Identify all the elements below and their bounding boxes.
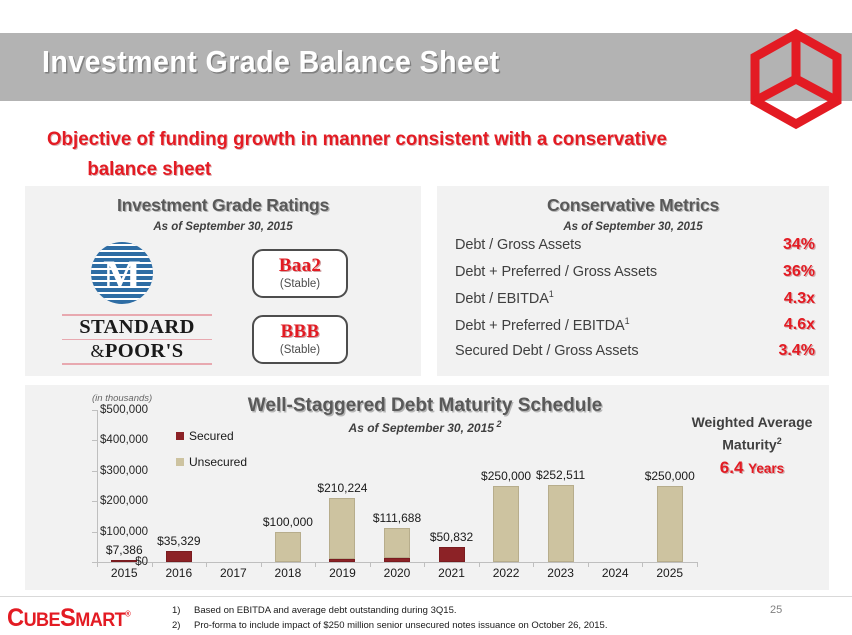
legend-item: Secured (176, 427, 247, 445)
rating-box-moodys: Baa2 (Stable) (252, 249, 348, 298)
ratings-panel-subtitle: As of September 30, 2015 (25, 216, 421, 233)
x-axis-tick-mark (152, 562, 153, 567)
bar-data-label: $50,832 (430, 530, 473, 544)
x-axis-tick-label: 2016 (165, 566, 192, 580)
x-axis-tick-mark (97, 562, 98, 567)
metric-row: Debt + Preferred / EBITDA14.6x (455, 316, 815, 343)
objective-line-1: Objective of funding growth in manner co… (47, 128, 667, 150)
sp-rule-bottom (62, 363, 212, 365)
objective-line-2: balance sheet (47, 154, 777, 184)
logo-c: C (7, 604, 24, 632)
chart-bar (493, 486, 519, 562)
wam-value: 6.4 Years (672, 458, 832, 478)
x-axis-tick-label: 2022 (493, 566, 520, 580)
moodys-logo: M (88, 239, 156, 307)
metric-row: Secured Debt / Gross Assets3.4% (455, 342, 815, 369)
metric-footnote-marker: 1 (625, 316, 630, 326)
x-axis-tick-label: 2020 (384, 566, 411, 580)
x-axis-tick-mark (588, 562, 589, 567)
bar-data-label: $111,688 (373, 511, 421, 525)
bar-data-label: $250,000 (481, 469, 531, 483)
bar-segment-unsecured (329, 498, 355, 559)
sp-line-1: STANDARD (62, 316, 212, 339)
y-axis-tick-mark (92, 410, 97, 411)
metric-row: Debt / Gross Assets34% (455, 236, 815, 263)
legend-item: Unsecured (176, 453, 247, 471)
x-axis-tick-mark (479, 562, 480, 567)
rating-outlook: (Stable) (280, 343, 320, 358)
bar-data-label: $252,511 (536, 468, 585, 482)
rating-grade: Baa2 (279, 256, 321, 276)
y-axis-tick-mark (92, 532, 97, 533)
footnote-text: Pro-forma to include impact of $250 mill… (194, 618, 607, 633)
chart-bar (657, 486, 683, 562)
footnote-text: Based on EBITDA and average debt outstan… (194, 603, 457, 618)
x-axis-tick-mark (642, 562, 643, 567)
x-axis-tick-mark (261, 562, 262, 567)
x-axis-tick-label: 2017 (220, 566, 247, 580)
chart-bar (384, 528, 410, 562)
rating-box-sp: BBB (Stable) (252, 315, 348, 364)
metric-value: 34% (753, 236, 815, 254)
sp-line-2: &POOR'S (62, 340, 212, 363)
rating-grade: BBB (281, 322, 320, 342)
metric-label: Debt / EBITDA1 (455, 289, 753, 307)
bar-data-label: $100,000 (263, 515, 313, 529)
legend-swatch (176, 432, 184, 440)
metric-value: 3.4% (753, 342, 815, 360)
ratings-panel-title: Investment Grade Ratings (25, 186, 421, 216)
y-axis-tick-mark (92, 440, 97, 441)
metric-footnote-marker: 1 (549, 289, 554, 299)
weighted-average-maturity: Weighted Average Maturity2 6.4 Years (672, 413, 832, 478)
bar-data-label: $7,386 (106, 543, 143, 557)
bar-segment-unsecured (275, 532, 301, 562)
metric-label: Debt + Preferred / Gross Assets (455, 264, 753, 280)
standard-and-poors-logo: STANDARD &POOR'S (62, 314, 212, 365)
wam-title-line-1: Weighted Average (672, 413, 832, 432)
wam-unit: Years (748, 461, 784, 476)
wam-footnote-marker: 2 (777, 436, 782, 446)
bar-segment-unsecured (657, 486, 683, 562)
bar-data-label: $210,224 (317, 481, 367, 495)
chart-bar (439, 547, 465, 562)
metric-label: Debt + Preferred / EBITDA1 (455, 316, 753, 334)
footnote-row: 1)Based on EBITDA and average debt outst… (172, 603, 772, 618)
metric-value: 4.3x (753, 290, 815, 308)
footer-divider (0, 596, 852, 597)
footnote-row: 2)Pro-forma to include impact of $250 mi… (172, 618, 772, 633)
y-axis-tick-label: $100,000 (58, 526, 148, 538)
bar-segment-unsecured (384, 528, 410, 558)
logo-s: S (60, 604, 75, 632)
x-axis-tick-mark (697, 562, 698, 567)
metric-value: 4.6x (753, 316, 815, 334)
y-axis-tick-mark (92, 501, 97, 502)
svg-text:M: M (103, 252, 141, 297)
x-axis-tick-label: 2018 (275, 566, 302, 580)
metric-row: Debt / EBITDA14.3x (455, 289, 815, 316)
page-number: 25 (770, 604, 782, 616)
metric-row: Debt + Preferred / Gross Assets36% (455, 263, 815, 290)
metrics-panel-title: Conservative Metrics (437, 186, 829, 216)
chart-bar (548, 485, 574, 562)
x-axis-tick-mark (370, 562, 371, 567)
metrics-list: Debt / Gross Assets34%Debt + Preferred /… (455, 236, 815, 369)
bar-segment-secured (439, 547, 465, 562)
bar-segment-secured (166, 551, 192, 562)
metric-label: Secured Debt / Gross Assets (455, 343, 753, 359)
bar-segment-unsecured (548, 485, 574, 562)
x-axis-tick-label: 2019 (329, 566, 356, 580)
logo-ube: UBE (24, 610, 60, 631)
chart-x-axis (97, 562, 697, 563)
legend-swatch (176, 458, 184, 466)
x-axis-tick-mark (424, 562, 425, 567)
x-axis-tick-mark (533, 562, 534, 567)
footnote-number: 1) (172, 603, 194, 618)
chart-legend: SecuredUnsecured (176, 427, 247, 479)
x-axis-tick-label: 2021 (438, 566, 465, 580)
bar-data-label: $35,329 (157, 534, 200, 548)
metric-label: Debt / Gross Assets (455, 237, 753, 253)
x-axis-tick-label: 2024 (602, 566, 629, 580)
x-axis-tick-label: 2025 (656, 566, 683, 580)
chart-bar (329, 498, 355, 562)
x-axis-tick-mark (206, 562, 207, 567)
cubesmart-logo: CUBESMART® (7, 604, 130, 633)
red-cube-logo (748, 27, 844, 131)
bar-segment-unsecured (493, 486, 519, 562)
legend-label: Secured (189, 429, 234, 443)
y-axis-tick-mark (92, 471, 97, 472)
sp-ampersand: & (90, 341, 104, 361)
y-axis-tick-label: $200,000 (58, 495, 148, 507)
metrics-panel-subtitle: As of September 30, 2015 (437, 216, 829, 233)
slide: Investment Grade Balance Sheet Objective… (0, 0, 852, 635)
legend-label: Unsecured (189, 455, 247, 469)
wam-title-line-2: Maturity2 (672, 432, 832, 455)
bar-segment-secured (384, 558, 410, 562)
logo-mart: MART (75, 610, 125, 631)
metric-value: 36% (753, 263, 815, 281)
chart-units-label: (in thousands) (92, 393, 152, 404)
x-axis-tick-mark (315, 562, 316, 567)
y-axis-tick-label: $500,000 (58, 404, 148, 416)
chart-bar (275, 532, 301, 562)
bar-segment-secured (329, 559, 355, 562)
footnote-number: 2) (172, 618, 194, 633)
y-axis-tick-label: $400,000 (58, 434, 148, 446)
rating-outlook: (Stable) (280, 277, 320, 292)
chart-bar (166, 551, 192, 562)
registered-mark: ® (125, 610, 130, 619)
footnotes: 1)Based on EBITDA and average debt outst… (172, 603, 772, 633)
x-axis-tick-label: 2015 (111, 566, 138, 580)
x-axis-tick-label: 2023 (547, 566, 574, 580)
objective-statement: Objective of funding growth in manner co… (47, 124, 777, 184)
page-title: Investment Grade Balance Sheet (42, 44, 500, 80)
y-axis-tick-label: $300,000 (58, 465, 148, 477)
sp-poors: POOR'S (105, 340, 184, 362)
